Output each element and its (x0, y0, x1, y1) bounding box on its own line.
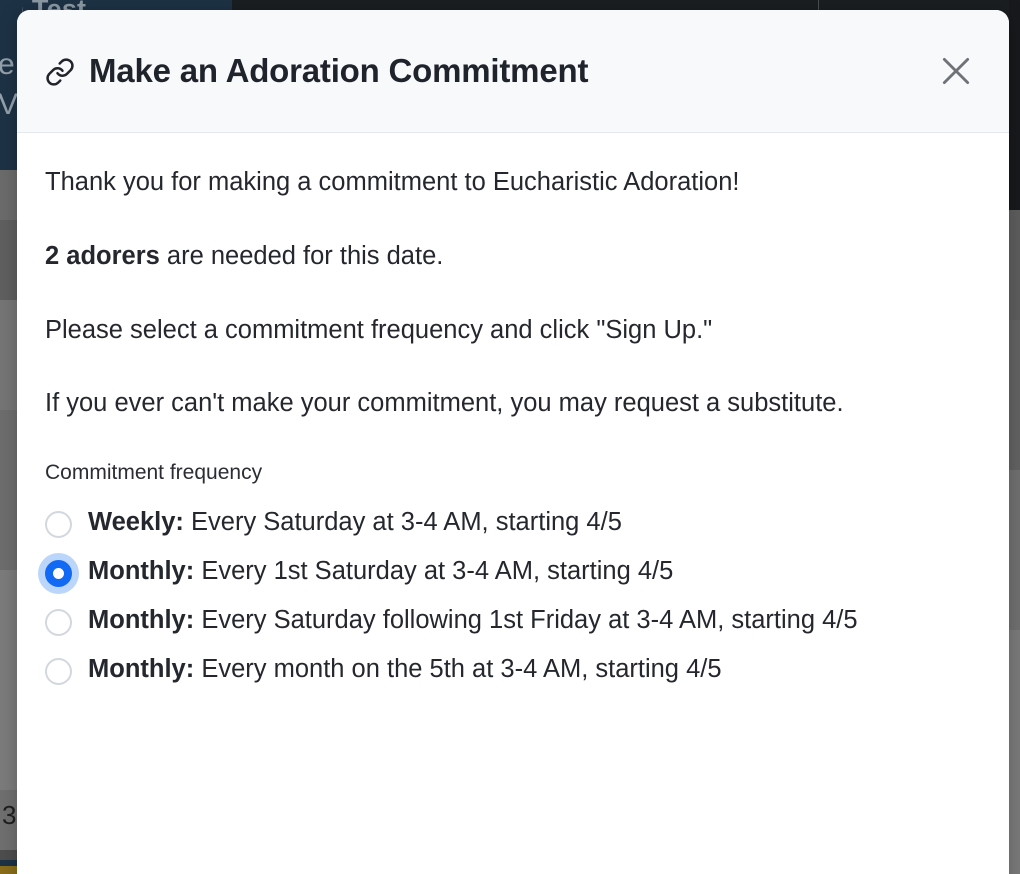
radio-option-monthly-1st-saturday[interactable]: Monthly: Every 1st Saturday at 3-4 AM, s… (45, 547, 981, 596)
radio-option-prefix: Monthly: (88, 606, 194, 634)
radio-option-weekly[interactable]: Weekly: Every Saturday at 3-4 AM, starti… (45, 498, 981, 547)
radio-option-label: Monthly: Every 1st Saturday at 3-4 AM, s… (88, 552, 673, 591)
radio-option-description: Every 1st Saturday at 3-4 AM, starting 4… (194, 557, 673, 585)
radio-option-label: Weekly: Every Saturday at 3-4 AM, starti… (88, 503, 622, 542)
commitment-frequency-label: Commitment frequency (45, 459, 981, 486)
modal-header-left: Make an Adoration Commitment (45, 52, 933, 90)
background-scrim-right (1009, 0, 1020, 874)
radio-option-monthly-saturday-after-1st-friday[interactable]: Monthly: Every Saturday following 1st Fr… (45, 596, 981, 645)
link-icon (45, 57, 75, 87)
radio-indicator[interactable] (45, 609, 72, 636)
adorers-needed-rest: are needed for this date. (160, 242, 444, 270)
radio-option-monthly-day-5[interactable]: Monthly: Every month on the 5th at 3-4 A… (45, 645, 981, 694)
page-root: m Test e V 3 Make an Adoration Commitmen… (0, 0, 1020, 874)
close-icon (936, 51, 976, 91)
background-side-text-1: e (0, 48, 15, 82)
radio-option-label: Monthly: Every month on the 5th at 3-4 A… (88, 650, 722, 689)
radio-option-prefix: Weekly: (88, 508, 184, 536)
thank-you-text: Thank you for making a commitment to Euc… (45, 163, 981, 202)
radio-option-label: Monthly: Every Saturday following 1st Fr… (88, 601, 858, 640)
radio-indicator[interactable] (45, 658, 72, 685)
radio-indicator-selected[interactable] (45, 560, 72, 587)
radio-option-description: Every month on the 5th at 3-4 AM, starti… (194, 655, 721, 683)
radio-indicator[interactable] (45, 511, 72, 538)
adorers-needed-text: 2 adorers are needed for this date. (45, 237, 981, 276)
radio-option-description: Every Saturday at 3-4 AM, starting 4/5 (184, 508, 622, 536)
instruction-text: Please select a commitment frequency and… (45, 311, 981, 350)
background-numeral: 3 (2, 800, 16, 831)
modal-header: Make an Adoration Commitment (17, 10, 1009, 133)
adorers-count: 2 adorers (45, 242, 160, 270)
modal-body: Thank you for making a commitment to Euc… (17, 133, 1009, 694)
radio-option-prefix: Monthly: (88, 557, 194, 585)
adoration-commitment-modal: Make an Adoration Commitment Thank you f… (17, 10, 1009, 874)
page-title: Make an Adoration Commitment (89, 52, 588, 90)
radio-option-prefix: Monthly: (88, 655, 194, 683)
background-side-text-2: V (0, 88, 18, 122)
close-button[interactable] (933, 48, 979, 94)
commitment-frequency-radio-group: Weekly: Every Saturday at 3-4 AM, starti… (45, 498, 981, 694)
radio-option-description: Every Saturday following 1st Friday at 3… (194, 606, 857, 634)
substitute-text: If you ever can't make your commitment, … (45, 384, 945, 423)
